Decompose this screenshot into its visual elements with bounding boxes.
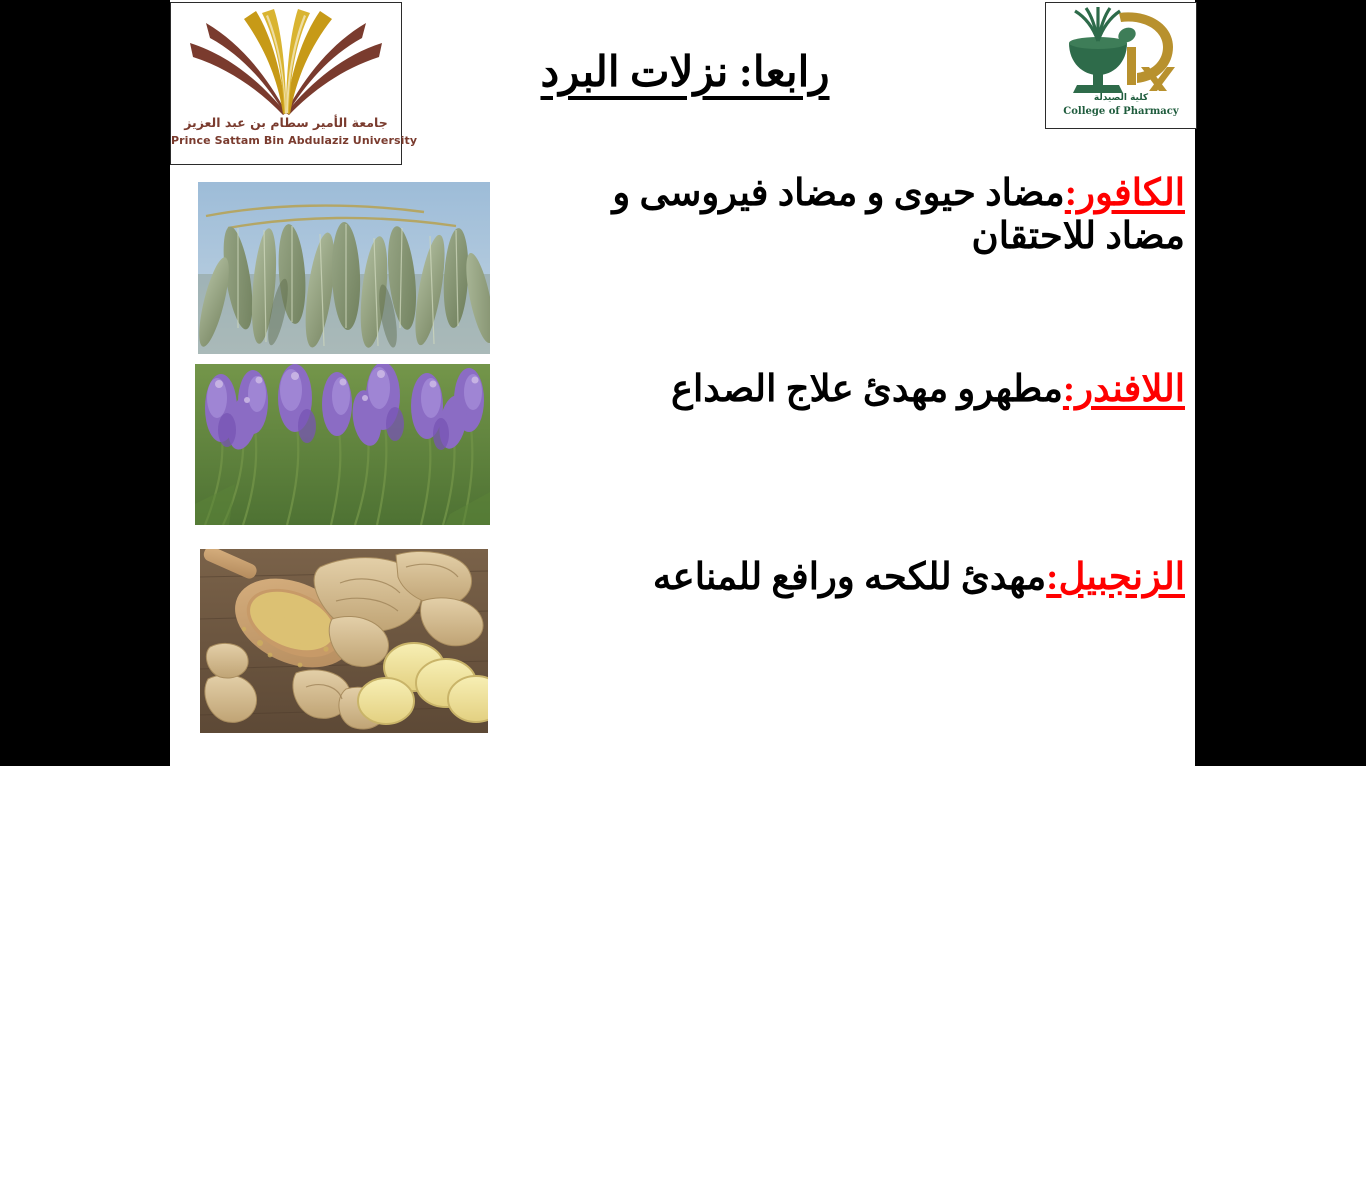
herb-text-block: اللافندر:مطهرو مهدئ علاج الصداع <box>600 368 1185 411</box>
herb-text-block: الكافور:مضاد حيوى و مضاد فيروسى و مضاد ل… <box>600 172 1185 259</box>
university-logo-caption-en: Prince Sattam Bin Abdulaziz University <box>171 134 401 147</box>
slide-root: جامعة الأمير سطام بن عبد العزيز Prince S… <box>0 0 1366 1185</box>
letterbox-right-bar <box>1195 0 1366 766</box>
herb-name-ginger: الزنجبيل: <box>1046 557 1185 598</box>
ginger-root-photo <box>200 549 488 733</box>
herb-description-ginger: مهدئ للكحه ورافع للمناعه <box>653 557 1046 598</box>
pharmacy-logo-caption-ar: كلية الصيدلة <box>1046 93 1196 103</box>
slide-canvas: جامعة الأمير سطام بن عبد العزيز Prince S… <box>170 0 1195 766</box>
herb-description-lavender: مطهرو مهدئ علاج الصداع <box>671 369 1063 410</box>
university-logo: جامعة الأمير سطام بن عبد العزيز Prince S… <box>170 2 402 165</box>
herb-name-lavender: اللافندر: <box>1063 369 1185 410</box>
pharmacy-logo-caption-en: College of Pharmacy <box>1046 106 1196 117</box>
mortar-pestle-rx-icon <box>1057 7 1185 95</box>
herb-text-block: الزنجبيل:مهدئ للكحه ورافع للمناعه <box>600 556 1185 599</box>
letterbox-left-bar <box>0 0 170 766</box>
slide-title: رابعا: نزلات البرد <box>500 52 870 94</box>
herb-name-camphor: الكافور: <box>1065 173 1185 214</box>
lavender-flowers-photo <box>195 364 490 525</box>
eucalyptus-camphor-leaves-photo <box>198 182 490 354</box>
open-book-fan-icon <box>186 9 386 117</box>
university-logo-caption-ar: جامعة الأمير سطام بن عبد العزيز <box>171 115 401 130</box>
pharmacy-college-logo: كلية الصيدلة College of Pharmacy <box>1045 2 1197 129</box>
